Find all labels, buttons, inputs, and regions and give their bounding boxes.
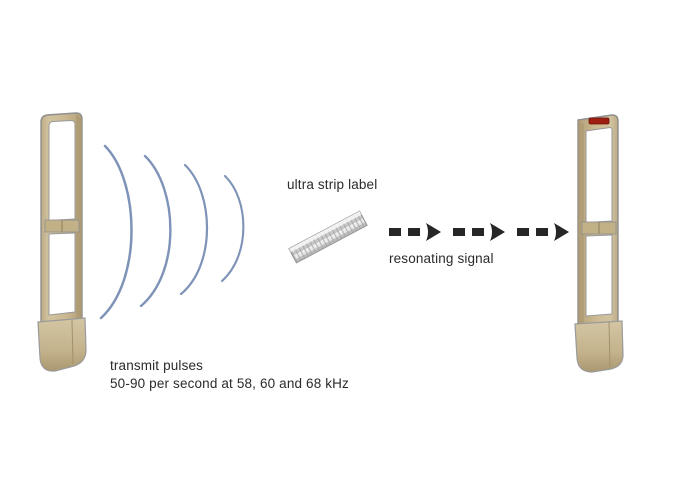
arrow-group-2 — [453, 223, 505, 241]
strip-body — [289, 211, 367, 263]
arrow-dash — [389, 228, 401, 236]
arrow-group-3 — [517, 223, 569, 241]
right-pedestal-window-lower — [586, 235, 612, 316]
left-antenna-pedestal[interactable] — [38, 113, 86, 371]
right-antenna-pedestal[interactable] — [575, 115, 623, 372]
right-pedestal-base — [575, 321, 623, 372]
ultra-strip-label-text: ultra strip label — [287, 176, 377, 194]
arrow-head-icon — [554, 223, 569, 241]
left-pedestal-base — [38, 318, 86, 371]
arrow-dash — [536, 228, 548, 236]
arrow-dash — [472, 228, 484, 236]
arrow-head-icon — [490, 223, 505, 241]
transmit-pulses-caption: transmit pulses 50-90 per second at 58, … — [110, 357, 349, 393]
wave-arc-3 — [181, 165, 207, 294]
arrow-dash — [453, 228, 465, 236]
arrow-head-icon — [426, 223, 441, 241]
left-pedestal-window-lower — [49, 233, 75, 315]
eas-diagram-svg — [0, 0, 700, 500]
right-pedestal-window-upper — [586, 128, 612, 223]
wave-arc-1 — [101, 146, 132, 318]
ultra-strip-label-tag[interactable] — [289, 211, 367, 263]
resonating-signal-arrows — [389, 223, 569, 241]
resonating-signal-label-text: resonating signal — [389, 250, 494, 268]
wave-arc-4 — [222, 176, 243, 281]
transmit-pulses-line-1: transmit pulses — [110, 358, 203, 373]
status-indicator-light — [589, 118, 609, 124]
diagram-canvas: ultra strip label resonating signal tran… — [0, 0, 700, 500]
left-pedestal-window-upper — [49, 121, 75, 221]
arrow-dash — [408, 228, 420, 236]
transmit-pulses-line-2: 50-90 per second at 58, 60 and 68 kHz — [110, 375, 349, 393]
transmit-wave-arcs — [101, 146, 243, 318]
wave-arc-2 — [141, 156, 170, 306]
arrow-dash — [517, 228, 529, 236]
arrow-group-1 — [389, 223, 441, 241]
